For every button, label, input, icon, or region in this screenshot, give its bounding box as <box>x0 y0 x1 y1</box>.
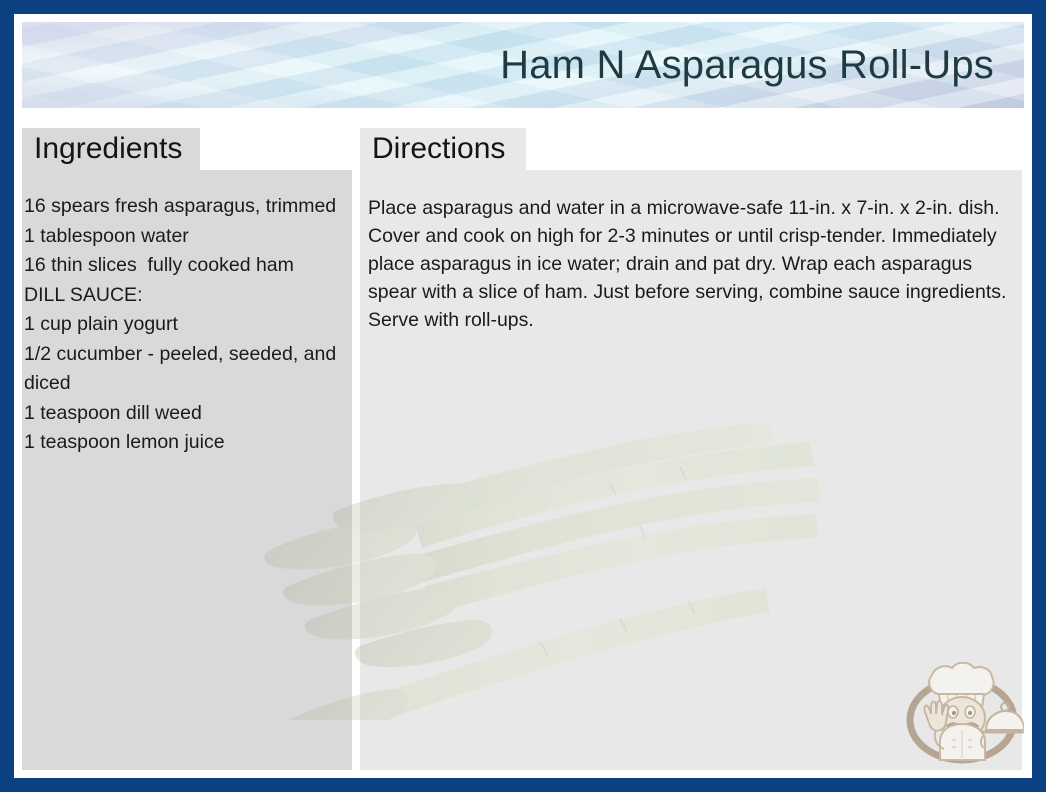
ingredients-list: 16 spears fresh asparagus, trimmed 1 tab… <box>24 192 344 458</box>
recipe-card-slide: Ham N Asparagus Roll-Ups Ingredients 16 … <box>0 0 1046 792</box>
directions-heading-tab: Directions <box>360 128 526 170</box>
directions-heading-label: Directions <box>372 134 505 164</box>
directions-body: Place asparagus and water in a microwave… <box>368 194 1018 334</box>
ingredients-heading-tab: Ingredients <box>22 128 200 170</box>
ingredients-heading-label: Ingredients <box>34 134 182 164</box>
page-title: Ham N Asparagus Roll-Ups <box>500 43 994 87</box>
title-banner: Ham N Asparagus Roll-Ups <box>22 22 1024 108</box>
